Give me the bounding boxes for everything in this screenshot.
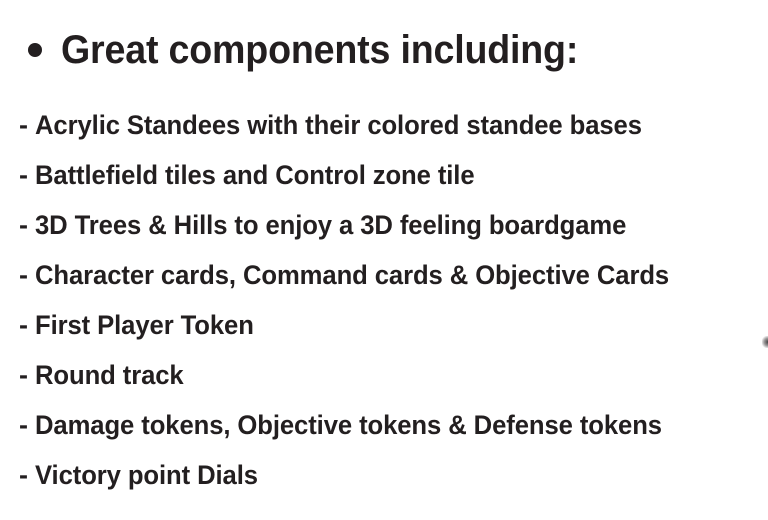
list-item-label: Acrylic Standees with their colored stan… <box>35 112 642 139</box>
list-item: - Battlefield tiles and Control zone til… <box>0 150 768 200</box>
bullet-dot-icon <box>28 43 42 57</box>
dash-marker-icon: - <box>19 262 28 289</box>
list-item-label: Battlefield tiles and Control zone tile <box>35 162 475 189</box>
page-title: Great components including: <box>61 30 578 70</box>
list-item: - Acrylic Standees with their colored st… <box>0 100 768 150</box>
components-page: Great components including: - Acrylic St… <box>0 0 768 520</box>
dash-marker-icon: - <box>19 312 28 339</box>
dash-marker-icon: - <box>19 212 28 239</box>
list-item: - First Player Token <box>0 300 768 350</box>
dash-marker-icon: - <box>19 412 28 439</box>
dash-marker-icon: - <box>19 162 28 189</box>
components-list: - Acrylic Standees with their colored st… <box>0 100 768 500</box>
list-item: - Round track <box>0 350 768 400</box>
list-item: - Character cards, Command cards & Objec… <box>0 250 768 300</box>
list-item-label: 3D Trees & Hills to enjoy a 3D feeling b… <box>35 212 626 239</box>
list-item: - Victory point Dials <box>0 450 768 500</box>
dash-marker-icon: - <box>19 112 28 139</box>
dash-marker-icon: - <box>19 462 28 489</box>
list-item-label: First Player Token <box>35 312 254 339</box>
dash-marker-icon: - <box>19 362 28 389</box>
list-item-label: Character cards, Command cards & Objecti… <box>35 262 669 289</box>
list-item-label: Victory point Dials <box>35 462 258 489</box>
page-heading: Great components including: <box>0 19 768 81</box>
list-item-label: Damage tokens, Objective tokens & Defens… <box>35 412 662 439</box>
list-item: - Damage tokens, Objective tokens & Defe… <box>0 400 768 450</box>
list-item-label: Round track <box>35 362 184 389</box>
list-item: - 3D Trees & Hills to enjoy a 3D feeling… <box>0 200 768 250</box>
